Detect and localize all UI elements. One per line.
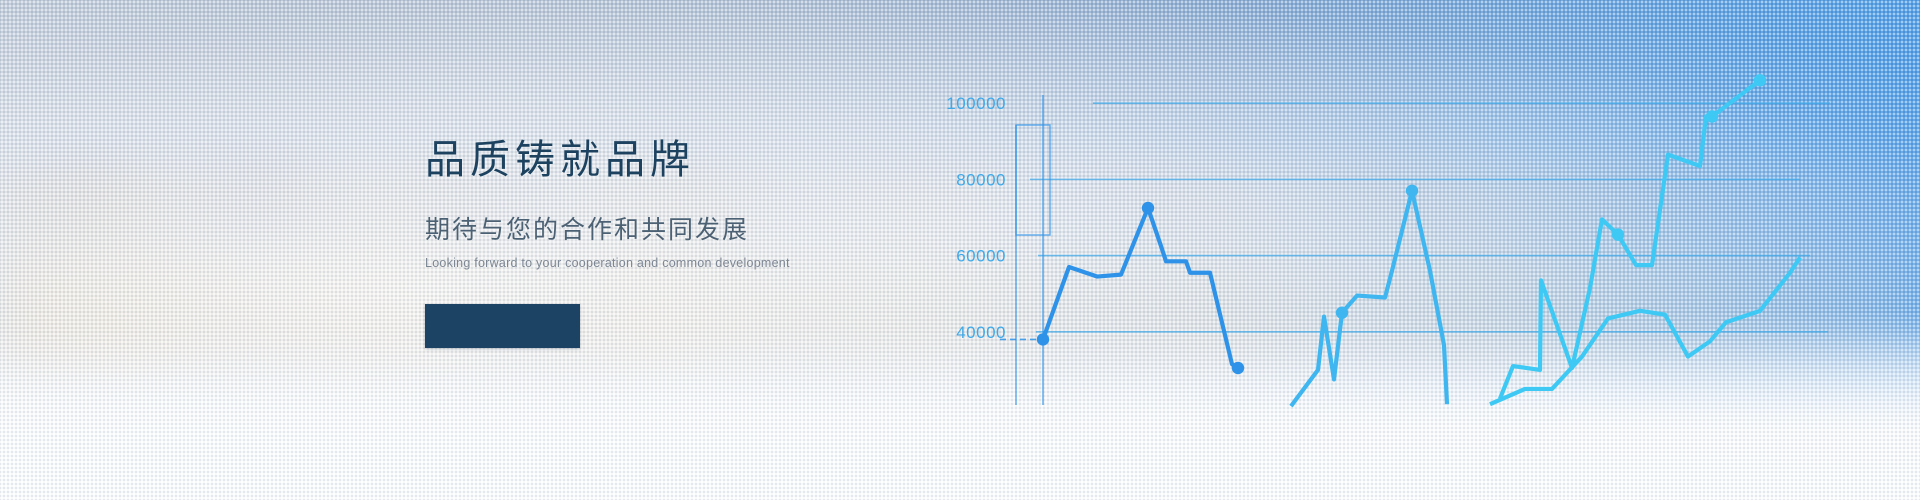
- hero-banner: 品质铸就品牌 期待与您的合作和共同发展 Looking forward to y…: [0, 0, 1920, 500]
- chart-line: [1043, 208, 1238, 368]
- cta-button[interactable]: [425, 304, 580, 348]
- chart-line: [1490, 257, 1800, 404]
- chart-line: [1500, 80, 1760, 398]
- hero-subtitle-en: Looking forward to your cooperation and …: [425, 257, 945, 270]
- chart-point-marker: [1232, 362, 1244, 374]
- chart-point-marker: [1142, 202, 1154, 214]
- chart-point-marker: [1706, 110, 1718, 122]
- chart-point-marker: [1406, 185, 1418, 197]
- chart-axis: [1000, 95, 1050, 405]
- chart-point-marker: [1336, 307, 1348, 319]
- chart-y-axis-labels: 400006000080000100000: [946, 94, 1006, 342]
- chart-point-marker: [1612, 228, 1624, 240]
- hero-copy: 品质铸就品牌 期待与您的合作和共同发展 Looking forward to y…: [425, 140, 945, 270]
- y-axis-tick-label: 60000: [956, 247, 1006, 266]
- chart-line: [1291, 191, 1447, 406]
- chart-point-marker: [1037, 333, 1049, 345]
- chart-canvas: 400006000080000100000: [930, 0, 1920, 500]
- page-title: 品质铸就品牌: [425, 140, 945, 180]
- y-axis-tick-label: 100000: [946, 94, 1006, 113]
- y-axis-tick-label: 80000: [956, 170, 1006, 189]
- chart-series-group: [1043, 80, 1800, 406]
- hero-subtitle-cn: 期待与您的合作和共同发展: [425, 218, 945, 243]
- y-axis-tick-label: 40000: [956, 323, 1006, 342]
- chart-point-marker: [1754, 74, 1766, 86]
- line-chart: 400006000080000100000: [930, 0, 1920, 500]
